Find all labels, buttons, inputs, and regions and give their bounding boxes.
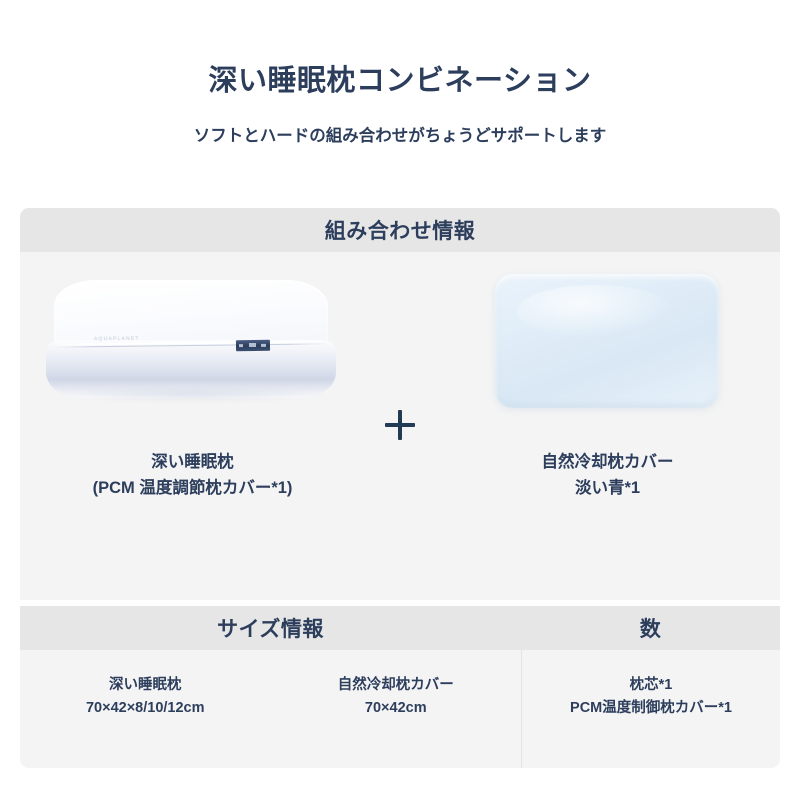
- info-panel: 組み合わせ情報 AQUAPLANET 深い: [20, 208, 780, 768]
- caption-line-2: 淡い青*1: [542, 476, 674, 502]
- size-item-name: 自然冷却枕カバー: [338, 674, 454, 697]
- page-title: 深い睡眠枕コンビネーション: [0, 0, 800, 99]
- deep-sleep-pillow-caption: 深い睡眠枕 (PCM 温度調節枕カバー*1): [93, 450, 293, 501]
- pillow-cover-highlight: [517, 285, 674, 339]
- combination-section-body: AQUAPLANET 深い睡眠枕 (PCM 温度調節枕カバー*1): [20, 252, 780, 600]
- caption-line-1: 自然冷却枕カバー: [542, 450, 674, 476]
- size-section-title: サイズ情報: [217, 613, 324, 643]
- product-card-cooling-pillow-cover: 自然冷却枕カバー 淡い青*1: [435, 252, 780, 501]
- product-card-deep-sleep-pillow: AQUAPLANET 深い睡眠枕 (PCM 温度調節枕カバー*1): [20, 252, 365, 501]
- count-section-title-cell: 数: [521, 606, 780, 650]
- deep-sleep-pillow-image: AQUAPLANET: [28, 252, 358, 442]
- size-item-name: 深い睡眠枕: [86, 674, 205, 697]
- size-section-title-cell: サイズ情報: [20, 606, 521, 650]
- size-cell-deep-sleep-pillow: 深い睡眠枕 70×42×8/10/12cm: [20, 650, 271, 768]
- plus-icon: [385, 410, 415, 440]
- pillow-cover-illustration: [495, 274, 719, 408]
- cooling-pillow-cover-image: [443, 252, 773, 442]
- caption-line-1: 深い睡眠枕: [93, 450, 293, 476]
- caption-line-2: (PCM 温度調節枕カバー*1): [93, 476, 293, 502]
- pillow-brand-print: AQUAPLANET: [93, 336, 139, 343]
- size-item-value: 70×42×8/10/12cm: [86, 697, 205, 720]
- size-item-value: 70×42cm: [338, 697, 454, 720]
- size-cells: 深い睡眠枕 70×42×8/10/12cm 自然冷却枕カバー 70×42cm: [20, 650, 522, 768]
- page-subtitle: ソフトとハードの組み合わせがちょうどサポートします: [0, 99, 800, 147]
- size-cell-cooling-pillow-cover: 自然冷却枕カバー 70×42cm: [271, 650, 522, 768]
- pillow-drop-shadow: [60, 388, 322, 402]
- pillow-label-tag: [235, 340, 269, 351]
- combination-section-header: 組み合わせ情報: [20, 208, 780, 252]
- combination-section-title: 組み合わせ情報: [325, 215, 476, 245]
- page-header: 深い睡眠枕コンビネーション ソフトとハードの組み合わせがちょうどサポートします: [0, 0, 800, 147]
- count-line-1: 枕芯*1: [570, 674, 732, 697]
- pillow-illustration: AQUAPLANET: [46, 280, 336, 398]
- specs-section-body: 深い睡眠枕 70×42×8/10/12cm 自然冷却枕カバー 70×42cm 枕…: [20, 650, 780, 768]
- count-cell: 枕芯*1 PCM温度制御枕カバー*1: [522, 650, 780, 768]
- count-line-2: PCM温度制御枕カバー*1: [570, 697, 732, 720]
- plus-separator: [365, 252, 435, 440]
- cooling-pillow-cover-caption: 自然冷却枕カバー 淡い青*1: [542, 450, 674, 501]
- count-section-title: 数: [640, 613, 662, 643]
- specs-section-header: サイズ情報 数: [20, 606, 780, 650]
